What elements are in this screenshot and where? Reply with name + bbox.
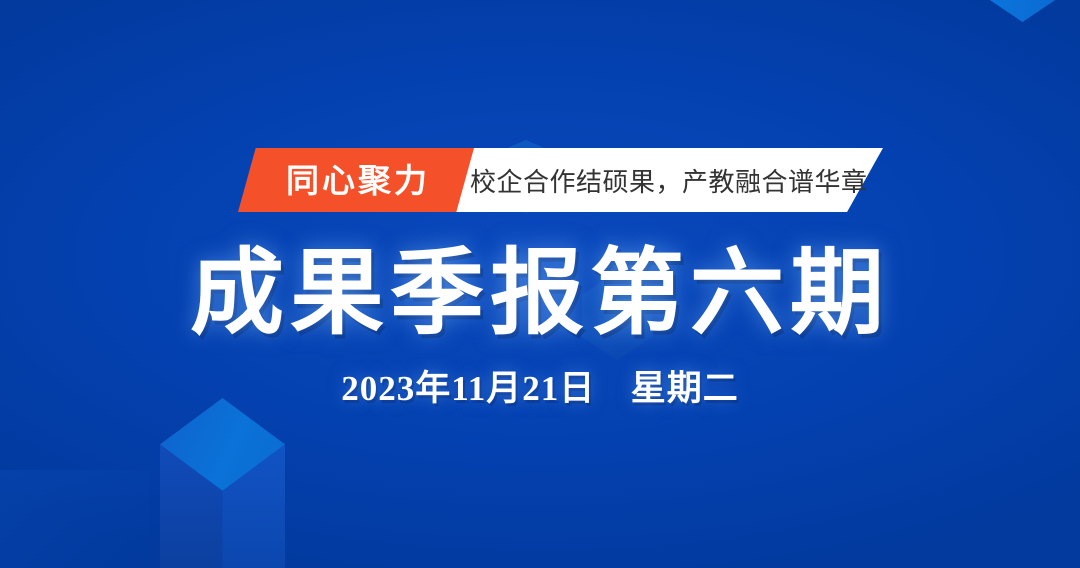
cube-face-left [955,0,1080,22]
cube-face-top [160,398,285,568]
background-soft-square [0,470,150,568]
ribbon: 同心聚力 校企合作结硕果，产教融合谱华章 [0,148,1080,212]
cube-face-right [955,0,1080,22]
dateline-date: 2023年11月21日 [341,369,595,408]
dateline: 2023年11月21日 星期二 [0,371,1080,406]
cube-face-right [160,398,285,568]
cube-block-top-right-icon [955,0,1080,22]
ribbon-orange-tag: 同心聚力 [238,148,474,212]
cube-face-bottom [955,0,1080,22]
dateline-weekday: 星期二 [631,369,739,408]
poster-banner: 同心聚力 校企合作结硕果，产教融合谱华章 成果季报第六期 2023年11月21日… [0,0,1080,568]
ribbon-subtitle: 校企合作结硕果，产教融合谱华章 [470,148,868,212]
page-title: 成果季报第六期 [0,244,1080,346]
cube-block-bottom-left-icon [160,398,285,568]
cube-face-left [160,398,285,568]
ribbon-tag-label: 同心聚力 [282,164,430,197]
